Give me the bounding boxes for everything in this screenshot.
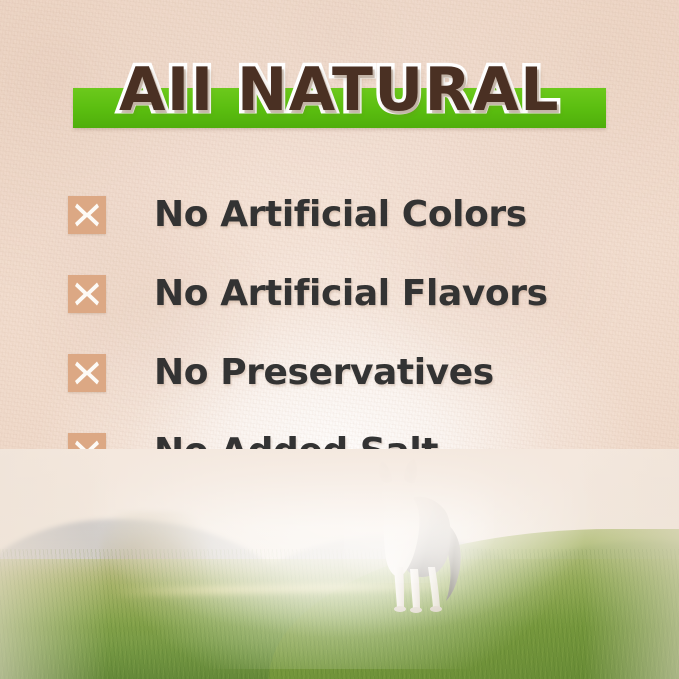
landscape-photo [0,449,679,679]
border-collie-dog [358,459,476,619]
feature-list: No Artificial Colors No Artificial Flavo… [68,175,628,491]
x-mark-icon [68,354,106,392]
grass-texture [0,549,679,679]
feature-item: No Artificial Colors [68,175,628,254]
feature-item: No Artificial Flavors [68,254,628,333]
feature-label: No Artificial Colors [154,196,527,234]
feature-label: No Artificial Flavors [154,275,548,313]
feature-item: No Preservatives [68,333,628,412]
feature-label: No Preservatives [154,354,494,392]
title-block: AII NATURAL [0,54,679,132]
all-natural-product-banner: AII NATURAL No Artificial Colors No Arti… [0,0,679,679]
banner-title: AII NATURAL [0,54,679,126]
x-mark-icon [68,196,106,234]
x-mark-icon [68,275,106,313]
